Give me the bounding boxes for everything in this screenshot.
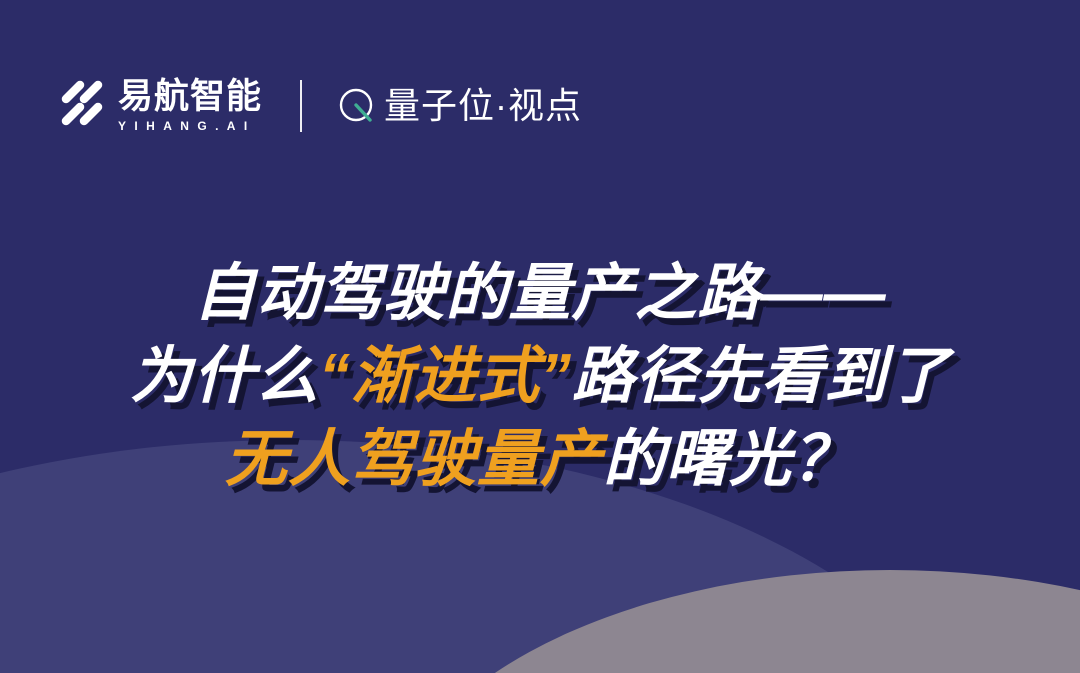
brand-yihang-name-cn: 易航智能 xyxy=(118,78,262,116)
headline-line-2-segment-3: 路径先看到了 xyxy=(572,342,950,411)
brand-qbitai-name: 量子位·视点 xyxy=(384,86,582,126)
logo-bar: 易航智能 YIHANG.AI 量子位·视点 xyxy=(60,74,582,138)
headline-line-1-segment-1: 自动驾驶的量产之路—— xyxy=(193,259,886,328)
yihang-slash-mark-icon xyxy=(60,80,104,126)
brand-yihang-text: 易航智能 YIHANG.AI xyxy=(118,78,262,134)
quantum-q-icon xyxy=(338,87,376,125)
headline-line-3-segment-2: 的曙光？ xyxy=(603,425,855,494)
headline-line-2-segment-1: 为什么 xyxy=(130,342,319,411)
headline-line-2: 为什么“渐进式”路径先看到了 xyxy=(0,335,1080,418)
brand-yihang: 易航智能 YIHANG.AI xyxy=(60,78,262,134)
headline-line-3-segment-1-highlight: 无人驾驶量产 xyxy=(225,425,603,494)
headline-line-1: 自动驾驶的量产之路—— xyxy=(0,252,1080,335)
poster-canvas: 易航智能 YIHANG.AI 量子位·视点 自动驾驶的量产之路—— 为什么“渐进… xyxy=(0,0,1080,673)
brand-yihang-name-en: YIHANG.AI xyxy=(118,118,262,134)
brand-qbitai: 量子位·视点 xyxy=(338,86,582,126)
headline-line-2-segment-2-highlight: “渐进式” xyxy=(319,342,572,411)
headline-line-3: 无人驾驶量产的曙光？ xyxy=(0,418,1080,501)
background-ellipse-grey xyxy=(380,570,1080,673)
brand-divider xyxy=(300,80,302,132)
page-title: 自动驾驶的量产之路—— 为什么“渐进式”路径先看到了 无人驾驶量产的曙光？ xyxy=(0,252,1080,501)
